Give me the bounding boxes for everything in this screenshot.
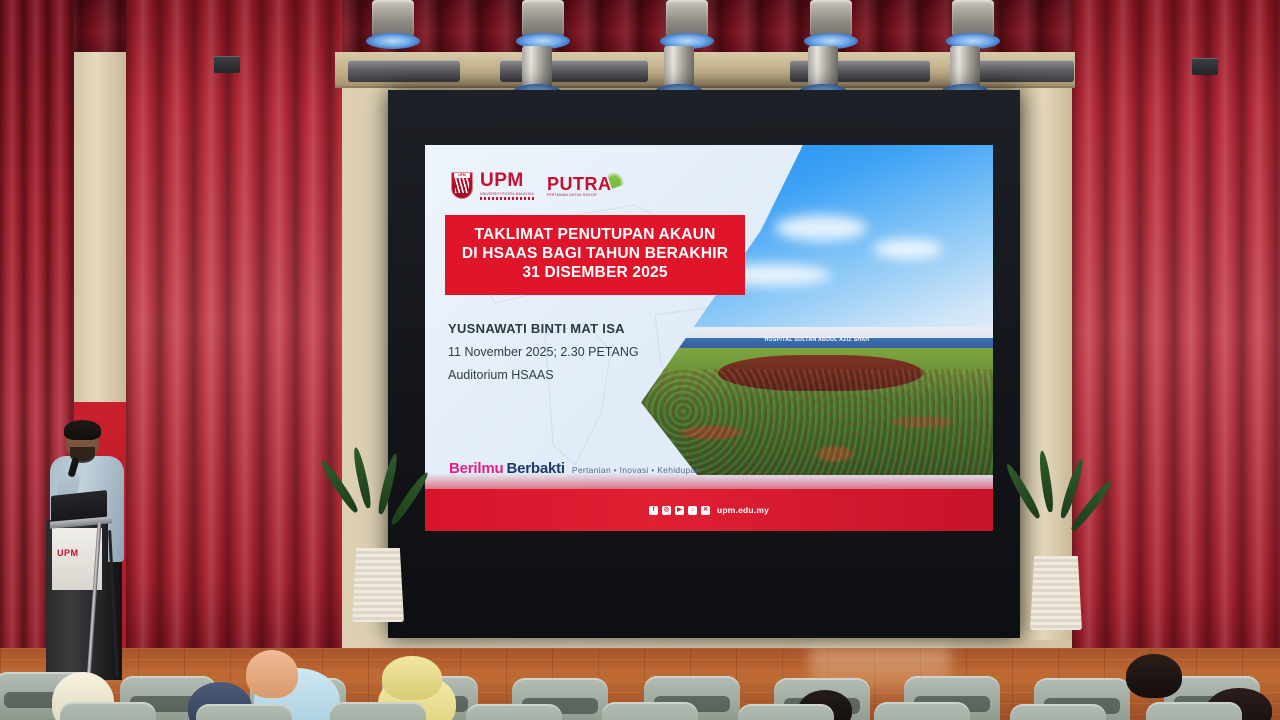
upm-barcode-decor [480,197,536,200]
slide-logo-row: UPM UPM UNIVERSITI PUTRA MALAYSIA PUTRA … [451,171,612,200]
hanging-stage-light-1 [372,0,414,40]
podium-upm-logo: UPM [57,548,79,558]
presenter-name: YUSNAWATI BINTI MAT ISA [448,321,639,336]
auditorium-chair-front[interactable] [1146,702,1242,720]
wall-speaker-left [214,56,240,73]
instagram-icon[interactable]: ◎ [662,506,671,515]
presentation-datetime: 11 November 2025; 2.30 PETANG [448,345,639,359]
hanging-stage-light-2 [522,0,564,40]
wall-column-left [70,52,126,402]
upm-wordmark: UPM [480,171,536,190]
upm-wordmark-group: UPM UNIVERSITI PUTRA MALAYSIA [480,171,536,200]
auditorium-scene: HOSPITAL SULTAN ABDUL AZIZ SHAH UPM UPM … [0,0,1280,720]
truss-fixture-bar-1 [348,60,460,82]
auditorium-chair-front[interactable] [874,702,970,720]
tiktok-icon[interactable]: ♪ [688,506,697,515]
hanging-stage-light-5 [952,0,994,40]
auditorium-chair-front[interactable] [196,704,292,720]
auditorium-chair-front[interactable] [466,704,562,720]
curtain-right [1072,0,1280,690]
truss-fixture-bar-4 [968,60,1074,82]
title-line-1: TAKLIMAT PENUTUPAN AKAUN [455,226,735,245]
wash-light-4 [950,46,980,92]
cloud-1 [775,215,867,241]
auditorium-chair-front[interactable] [1010,704,1106,720]
wash-light-1 [522,46,552,92]
title-line-3: 31 DISEMBER 2025 [455,264,735,283]
curtain-left [126,0,342,672]
hospital-name-sign: HOSPITAL SULTAN ABDUL AZIZ SHAH [765,337,870,343]
putra-wordmark: PUTRA [547,175,612,193]
attendee-dark-hair-center [1126,654,1182,698]
auditorium-chair-front[interactable] [60,702,156,720]
attendee-peach-hijab [246,650,298,698]
cloud-2 [873,239,943,259]
plant-pot-left [352,548,404,622]
plant-pot-right [1030,556,1082,630]
presentation-slide: HOSPITAL SULTAN ABDUL AZIZ SHAH UPM UPM … [425,145,993,531]
crest-top-label: UPM [454,173,470,178]
upm-crest-icon: UPM [451,172,473,199]
wall-speaker-right [1192,58,1218,75]
slide-presenter-details: YUSNAWATI BINTI MAT ISA 11 November 2025… [448,321,639,391]
auditorium-chair-front[interactable] [602,702,698,720]
upm-subtext: UNIVERSITI PUTRA MALAYSIA [480,192,536,196]
facebook-icon[interactable]: f [649,506,658,515]
presentation-location: Auditorium HSAAS [448,368,639,382]
title-line-2: DI HSAAS BAGI TAHUN BERAKHIR [455,245,735,264]
wash-light-3 [808,46,838,92]
auditorium-chair-front[interactable] [330,702,426,720]
hanging-stage-light-4 [810,0,852,40]
youtube-icon[interactable]: ▶ [675,506,684,515]
presenter-hair [64,420,101,440]
website-url: upm.edu.my [717,505,769,515]
slide-title-block: TAKLIMAT PENUTUPAN AKAUN DI HSAAS BAGI T… [445,215,745,295]
wall-column-right [1020,60,1072,640]
putra-wordmark-group: PUTRA PERTANIAN UNTUK RAKYAT [547,175,612,197]
auditorium-chair-front[interactable] [738,704,834,720]
slide-footer-bar: f ◎ ▶ ♪ ✕ upm.edu.my [425,489,993,531]
x-twitter-icon[interactable]: ✕ [701,506,710,515]
putra-subtext: PERTANIAN UNTUK RAKYAT [547,193,612,197]
wash-light-2 [664,46,694,92]
hanging-stage-light-3 [666,0,708,40]
footer-gradient [425,473,993,489]
attendee-yellow-hijab-2 [382,656,442,700]
led-display-screen[interactable]: HOSPITAL SULTAN ABDUL AZIZ SHAH UPM UPM … [388,90,1020,638]
